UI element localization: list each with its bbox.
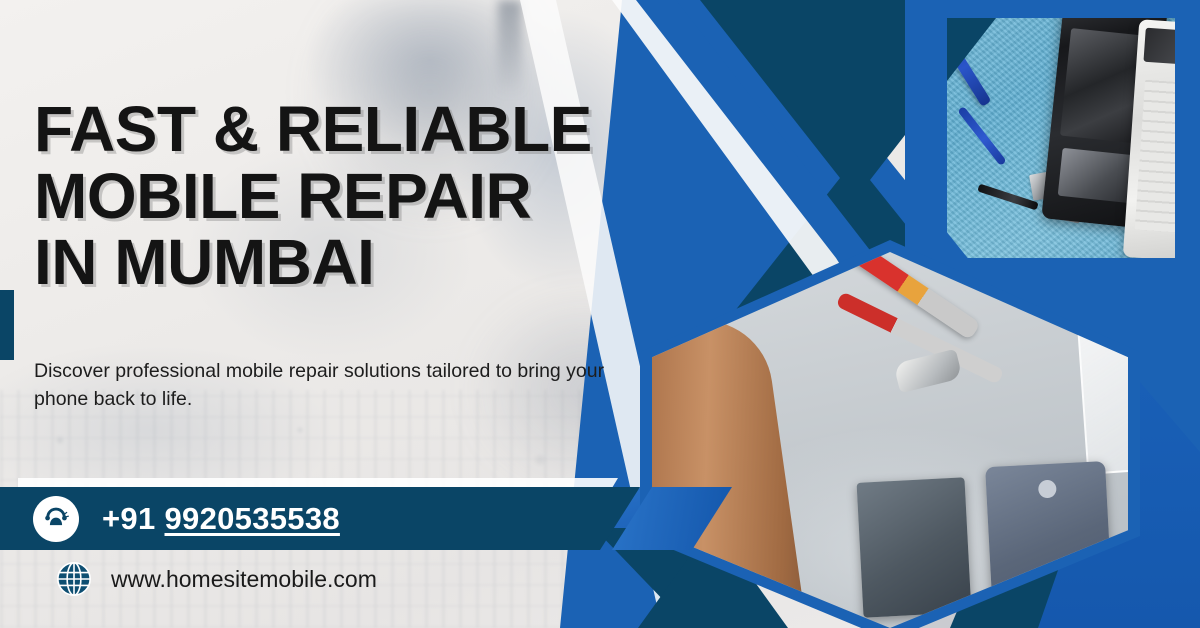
- phone-battery: [857, 477, 972, 617]
- phone-number-value: 9920535538: [165, 501, 340, 537]
- promotional-banner: FAST & RELIABLE MOBILE REPAIR IN MUMBAI …: [0, 0, 1200, 628]
- website-url: www.homesitemobile.com: [111, 566, 377, 593]
- headline-line-1: FAST & RELIABLE: [34, 96, 774, 163]
- headline-line-3: IN MUMBAI: [34, 229, 774, 296]
- phone-number[interactable]: +91 9920535538: [102, 496, 340, 542]
- pliers: [893, 349, 962, 394]
- website-row[interactable]: www.homesitemobile.com: [55, 560, 377, 598]
- subheadline: Discover professional mobile repair solu…: [34, 358, 644, 413]
- phone-bar-highlight: [18, 478, 618, 488]
- left-edge-accent-bar: [0, 290, 14, 360]
- phone-country-code: +91: [102, 501, 156, 537]
- headline-line-2: MOBILE REPAIR: [34, 163, 774, 230]
- pry-tool: [957, 106, 1006, 166]
- globe-icon: [55, 560, 93, 598]
- page-title: FAST & RELIABLE MOBILE REPAIR IN MUMBAI: [34, 96, 774, 296]
- telephone-icon: [33, 496, 79, 542]
- background-blur-shape: [498, 0, 522, 96]
- spudger-tool: [977, 184, 1038, 211]
